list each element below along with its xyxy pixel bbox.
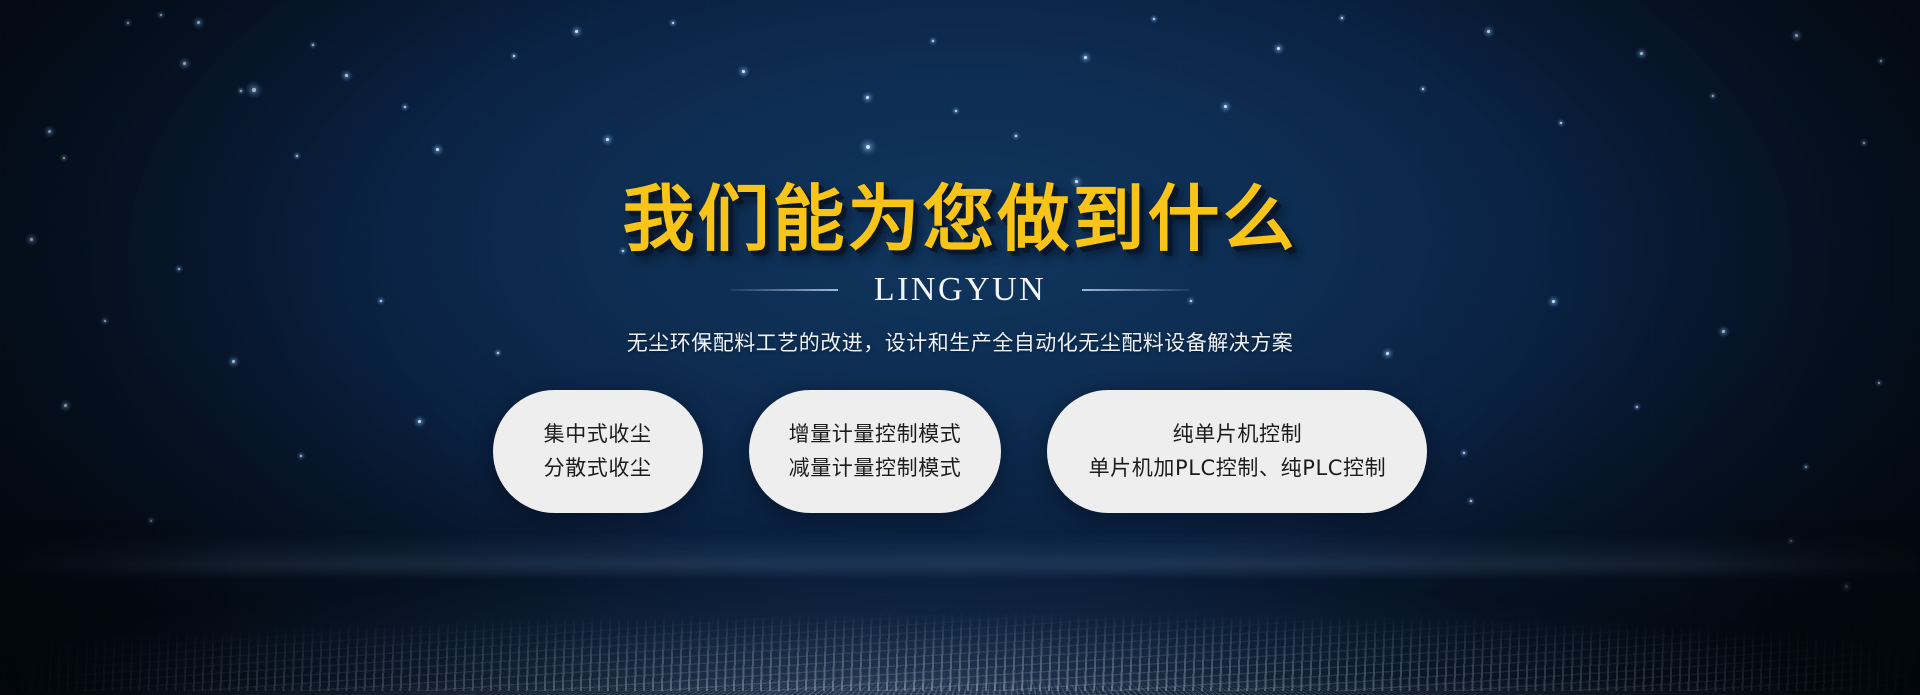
- feature-pill-dust-collection[interactable]: 集中式收尘 分散式收尘: [493, 390, 703, 513]
- pill-line: 集中式收尘: [544, 423, 652, 446]
- brand-subtitle: LINGYUN: [874, 273, 1046, 307]
- feature-pill-list: 集中式收尘 分散式收尘 增量计量控制模式 减量计量控制模式 纯单片机控制 单片机…: [493, 390, 1428, 513]
- banner-content: 我们能为您做到什么 LINGYUN 无尘环保配料工艺的改进，设计和生产全自动化无…: [0, 0, 1920, 695]
- pill-line: 单片机加PLC控制、纯PLC控制: [1089, 457, 1387, 480]
- page-description: 无尘环保配料工艺的改进，设计和生产全自动化无尘配料设备解决方案: [627, 329, 1294, 358]
- subtitle-divider-right: [1082, 289, 1190, 291]
- pill-line: 纯单片机控制: [1173, 423, 1303, 446]
- feature-pill-weighing-mode[interactable]: 增量计量控制模式 减量计量控制模式: [749, 390, 1002, 513]
- feature-pill-control-system[interactable]: 纯单片机控制 单片机加PLC控制、纯PLC控制: [1047, 390, 1427, 513]
- subtitle-divider-left: [730, 289, 838, 291]
- hero-banner: 我们能为您做到什么 LINGYUN 无尘环保配料工艺的改进，设计和生产全自动化无…: [0, 0, 1920, 695]
- page-title: 我们能为您做到什么: [622, 183, 1297, 255]
- pill-line: 分散式收尘: [544, 457, 652, 480]
- pill-line: 减量计量控制模式: [789, 457, 962, 480]
- pill-line: 增量计量控制模式: [789, 423, 962, 446]
- subtitle-row: LINGYUN: [730, 273, 1190, 307]
